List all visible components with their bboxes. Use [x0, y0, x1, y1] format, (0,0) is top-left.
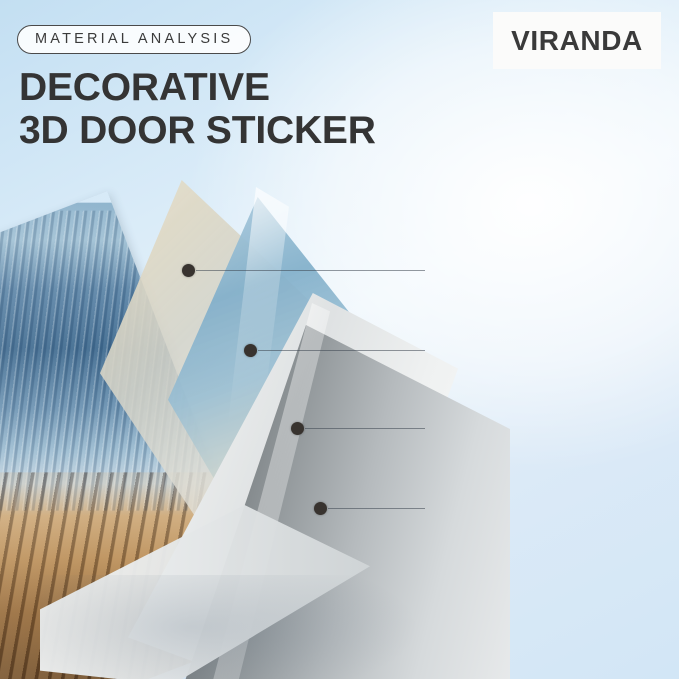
material-analysis-infographic: MATERIAL ANALYSIS DECORATIVE 3D DOOR STI…	[0, 0, 679, 679]
title-line-2: 3D DOOR STICKER	[19, 109, 376, 152]
sticker-layers-illustration	[0, 175, 460, 679]
callout-dot-3	[291, 422, 304, 435]
brand-name: VIRANDA	[511, 25, 643, 57]
callout-leader-2	[258, 350, 425, 351]
sheet-drop-shadow	[40, 575, 420, 679]
brand-logo-box: VIRANDA	[493, 12, 661, 69]
title-line-1: DECORATIVE	[19, 66, 270, 109]
material-analysis-badge: MATERIAL ANALYSIS	[17, 25, 251, 54]
callout-dot-1	[182, 264, 195, 277]
callout-dot-4	[314, 502, 327, 515]
page-title: DECORATIVE 3D DOOR STICKER	[19, 66, 376, 152]
callout-leader-1	[196, 270, 425, 271]
callout-dot-2	[244, 344, 257, 357]
callout-leader-3	[305, 428, 425, 429]
badge-label: MATERIAL ANALYSIS	[35, 32, 233, 47]
callout-leader-4	[328, 508, 425, 509]
